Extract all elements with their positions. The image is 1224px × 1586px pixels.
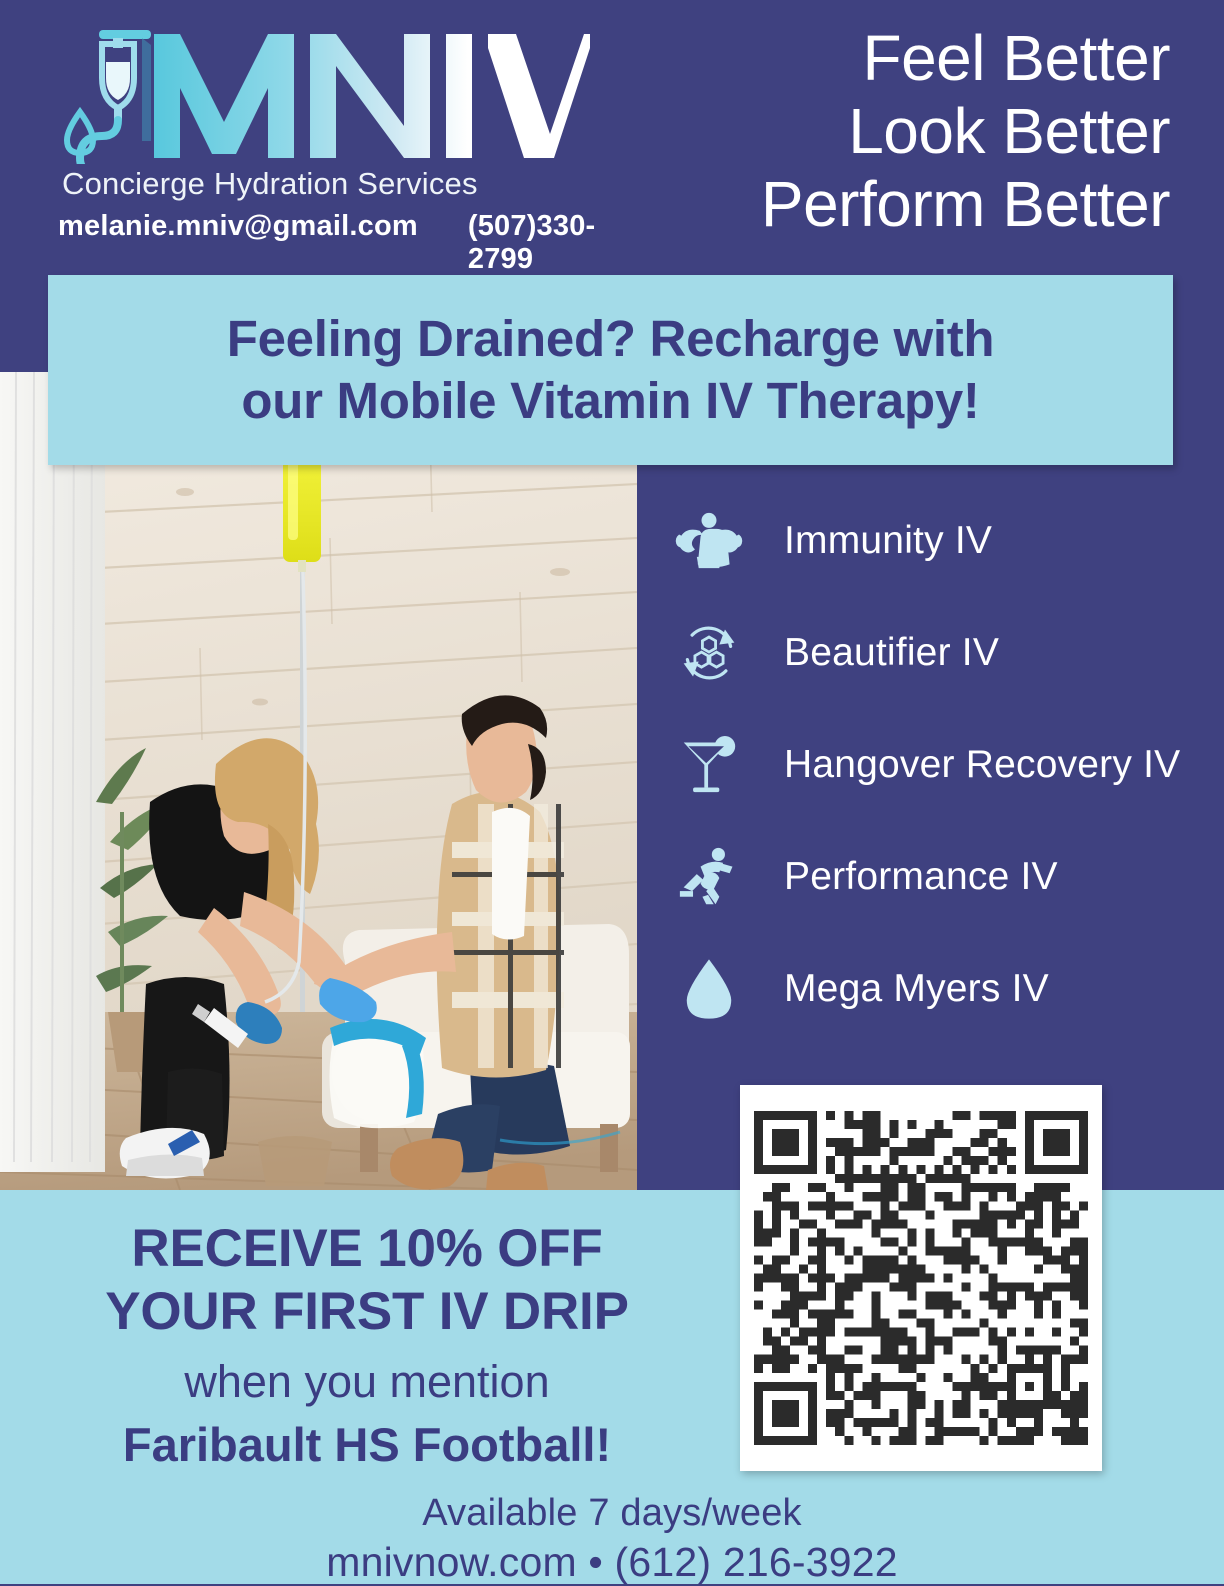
slogan-line-2: Look Better [761,95,1170,168]
service-item-immunity[interactable]: Immunity IV [672,485,1202,597]
service-label: Hangover Recovery IV [784,743,1180,787]
promo-line-4: Faribault HS Football! [0,1414,734,1475]
services-list: Immunity IV [672,485,1202,1045]
header-phone[interactable]: (507)330-2799 [468,210,598,276]
slogan-line-3: Perform Better [761,168,1170,241]
service-label: Immunity IV [784,519,992,563]
recycle-molecule-icon [672,622,746,684]
service-item-beautifier[interactable]: Beautifier IV [672,597,1202,709]
hero-photo [0,372,637,1190]
header-contact-row: melanie.mniv@gmail.com (507)330-2799 [58,210,598,276]
hero-photo-illustration [0,372,637,1190]
qr-code-matrix [754,1099,1088,1457]
service-label: Mega Myers IV [784,967,1049,1011]
promo-block: RECEIVE 10% OFF YOUR FIRST IV DRIP when … [0,1218,734,1475]
cocktail-glass-icon [672,733,746,797]
service-item-hangover[interactable]: Hangover Recovery IV [672,709,1202,821]
brand-tagline: Concierge Hydration Services [62,166,598,202]
brand-wordmark [150,18,590,164]
service-item-performance[interactable]: Performance IV [672,821,1202,933]
promo-line-2: YOUR FIRST IV DRIP [0,1281,734,1344]
flexing-muscles-icon [672,512,746,570]
slogan-line-1: Feel Better [761,22,1170,95]
service-label: Beautifier IV [784,631,999,675]
promo-line-1: RECEIVE 10% OFF [0,1218,734,1281]
headline-line-2: our Mobile Vitamin IV Therapy! [241,370,979,432]
water-droplet-icon [672,957,746,1021]
qr-code[interactable] [740,1085,1102,1471]
promo-line-3: when you mention [0,1353,734,1412]
header-email[interactable]: melanie.mniv@gmail.com [58,210,418,243]
flyer-canvas: Concierge Hydration Services melanie.mni… [0,0,1224,1584]
service-item-mega-myers[interactable]: Mega Myers IV [672,933,1202,1045]
footer-block: Available 7 days/week mnivnow.com • (612… [0,1492,1224,1586]
slogan-block: Feel Better Look Better Perform Better [761,22,1170,241]
service-label: Performance IV [784,855,1058,899]
footer-availability: Available 7 days/week [0,1492,1224,1535]
headline-banner: Feeling Drained? Recharge with our Mobil… [48,275,1173,465]
footer-contact[interactable]: mnivnow.com • (612) 216-3922 [0,1539,1224,1586]
running-person-icon [672,846,746,908]
iv-drip-bag-icon [58,24,154,164]
brand-logo-block: Concierge Hydration Services melanie.mni… [58,18,598,276]
headline-line-1: Feeling Drained? Recharge with [227,308,994,370]
